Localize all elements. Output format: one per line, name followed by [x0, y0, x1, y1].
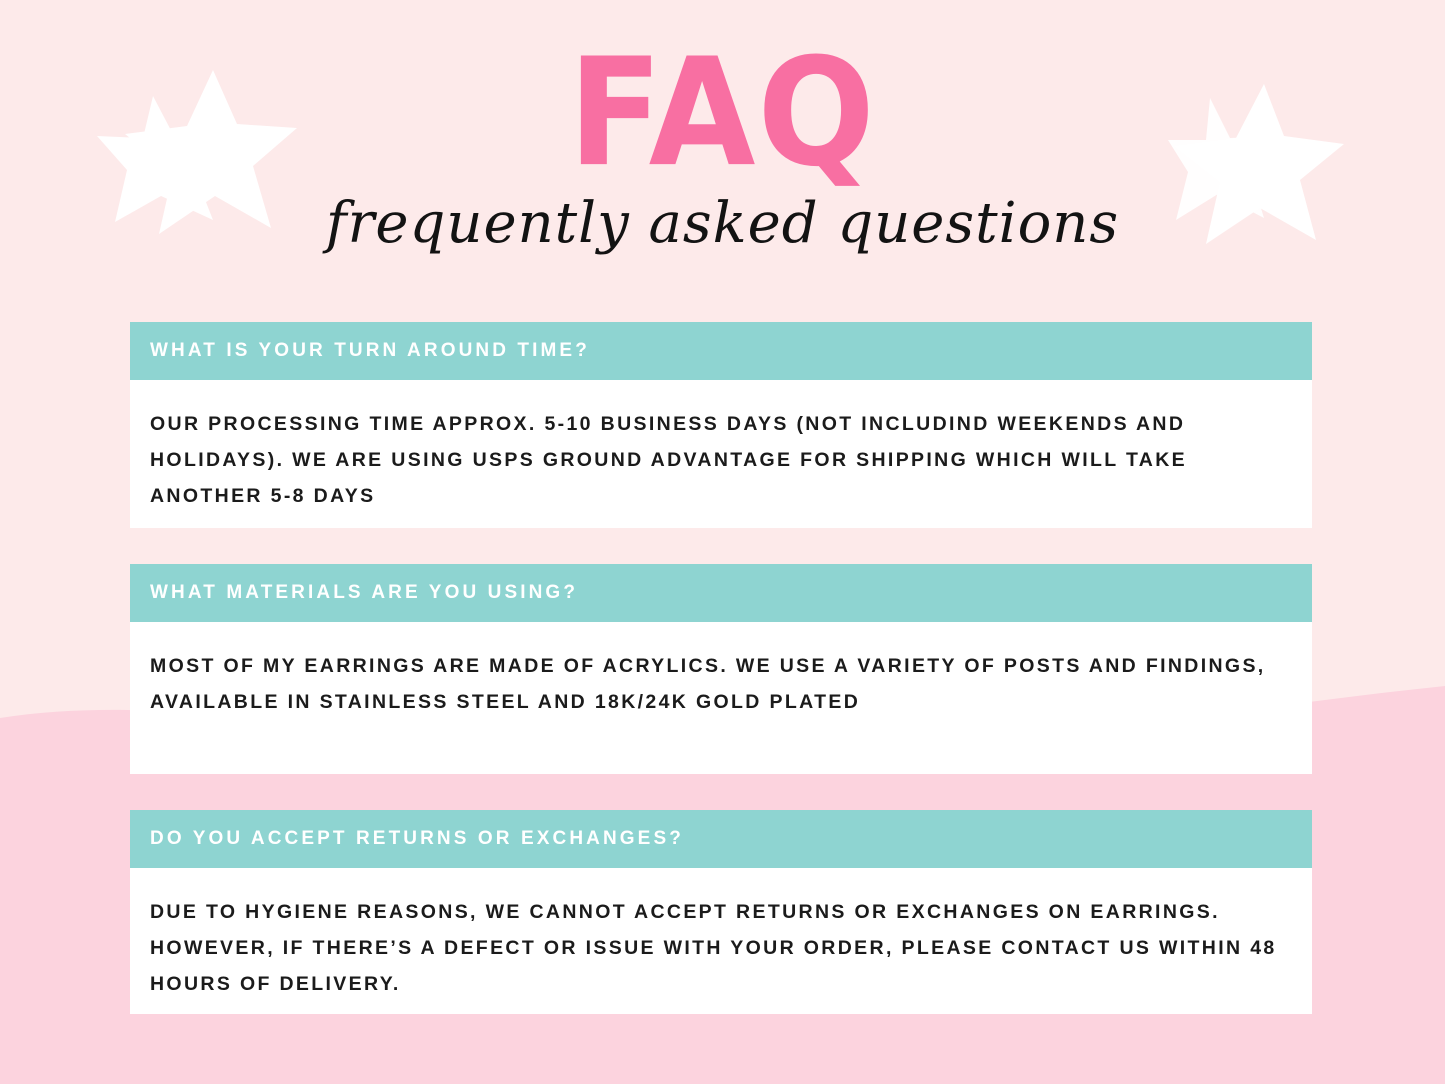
faq-list: WHAT IS YOUR TURN AROUND TIME? OUR PROCE…: [130, 322, 1312, 1014]
faq-question[interactable]: WHAT MATERIALS ARE YOU USING?: [130, 564, 1312, 622]
faq-answer: DUE TO HYGIENE REASONS, WE CANNOT ACCEPT…: [130, 868, 1312, 1014]
faq-answer: MOST OF MY EARRINGS ARE MADE OF ACRYLICS…: [130, 622, 1312, 774]
faq-question[interactable]: DO YOU ACCEPT RETURNS OR EXCHANGES?: [130, 810, 1312, 868]
faq-question[interactable]: WHAT IS YOUR TURN AROUND TIME?: [130, 322, 1312, 380]
page-title: FAQ: [0, 0, 1445, 188]
page-header: FAQ frequently asked questions: [0, 0, 1445, 252]
faq-item: DO YOU ACCEPT RETURNS OR EXCHANGES? DUE …: [130, 810, 1312, 1014]
faq-item: WHAT IS YOUR TURN AROUND TIME? OUR PROCE…: [130, 322, 1312, 528]
faq-answer: OUR PROCESSING TIME APPROX. 5-10 BUSINES…: [130, 380, 1312, 528]
faq-page: FAQ frequently asked questions WHAT IS Y…: [0, 0, 1445, 1084]
faq-item: WHAT MATERIALS ARE YOU USING? MOST OF MY…: [130, 564, 1312, 774]
